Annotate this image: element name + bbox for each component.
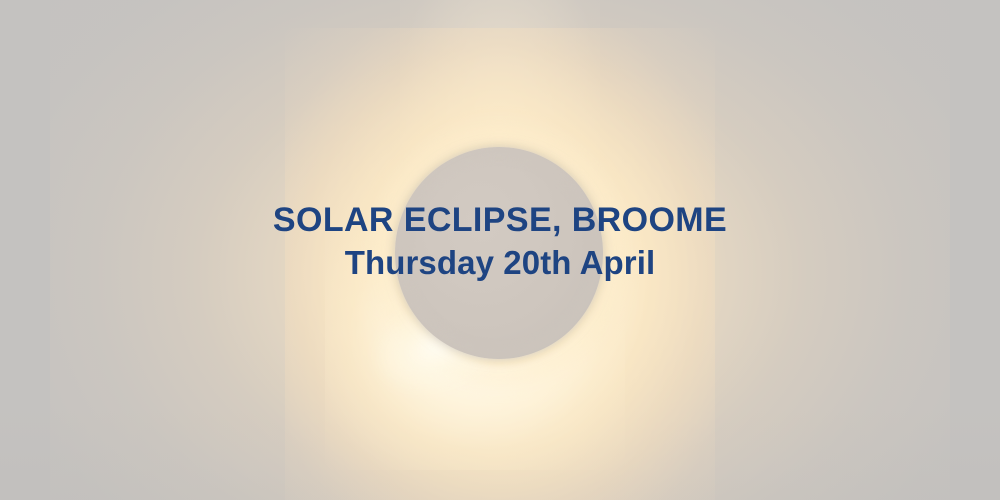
- page-title: SOLAR ECLIPSE, BROOME: [0, 198, 1000, 242]
- caption-block: SOLAR ECLIPSE, BROOME Thursday 20th Apri…: [0, 198, 1000, 284]
- eclipse-banner: SOLAR ECLIPSE, BROOME Thursday 20th Apri…: [0, 0, 1000, 500]
- event-date: Thursday 20th April: [0, 242, 1000, 284]
